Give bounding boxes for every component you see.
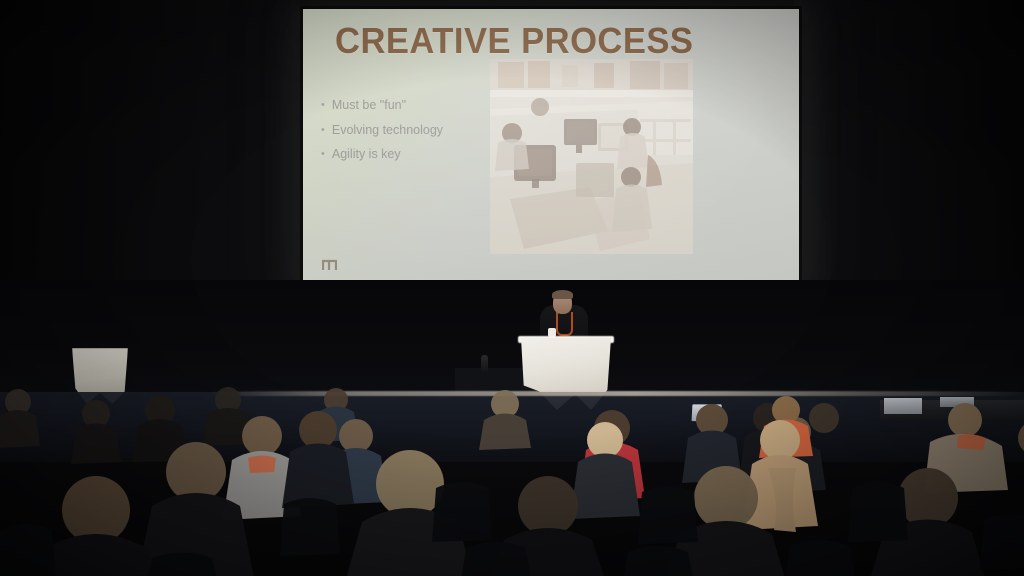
bullet-marker-icon: • <box>321 147 325 162</box>
slide-title: CREATIVE PROCESS <box>335 23 693 59</box>
audience-illustration <box>0 380 1024 576</box>
slide-bullet-list: • Must be "fun" • Evolving technology • … <box>321 98 511 172</box>
slide-photo-illustration <box>490 59 693 254</box>
bullet-text: Evolving technology <box>332 123 443 139</box>
audience-area <box>0 380 1024 576</box>
list-item: • Must be "fun" <box>321 98 511 114</box>
list-item: • Evolving technology <box>321 123 511 139</box>
list-item: • Agility is key <box>321 147 511 163</box>
projection-screen: CREATIVE PROCESS • Must be "fun" • Evolv… <box>303 9 799 284</box>
bullet-marker-icon: • <box>321 123 325 138</box>
water-bottle <box>481 355 488 372</box>
presenter-lanyard <box>556 312 573 336</box>
slide-photo-workspace <box>490 59 693 254</box>
bullet-marker-icon: • <box>321 98 325 113</box>
bullet-text: Agility is key <box>332 147 401 163</box>
conference-photo-scene: CREATIVE PROCESS • Must be "fun" • Evolv… <box>0 0 1024 576</box>
slide-logo-m-icon <box>322 258 337 270</box>
presenter-hair <box>552 290 573 299</box>
m-wordmark-icon <box>322 259 337 271</box>
bullet-text: Must be "fun" <box>332 98 406 114</box>
